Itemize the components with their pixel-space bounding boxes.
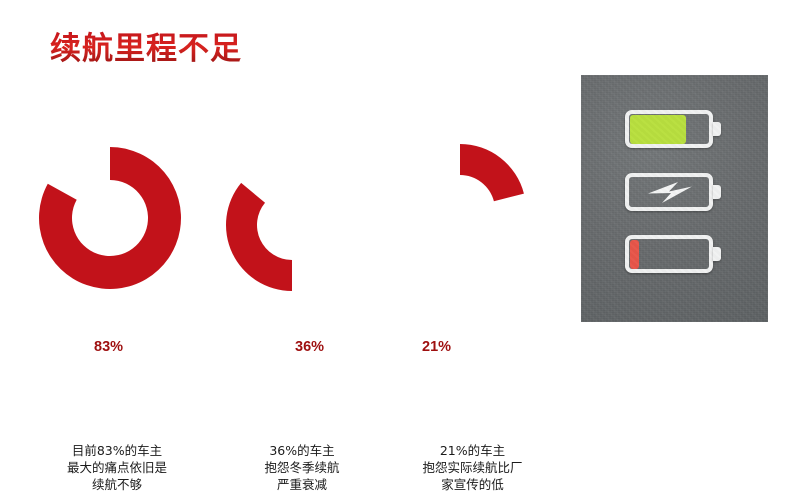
caption-line: 续航不够	[27, 476, 207, 493]
donut-ring-36	[222, 155, 362, 295]
donut-ring-83	[35, 143, 185, 293]
battery-charging-icon	[625, 173, 721, 211]
battery-terminal	[713, 247, 721, 261]
battery-terminal	[713, 122, 721, 136]
battery-full-icon	[625, 110, 721, 148]
caption-line: 家宣传的低	[380, 476, 565, 493]
page-title: 续航里程不足	[50, 28, 242, 70]
battery-terminal	[713, 185, 721, 199]
caption-line: 抱怨冬季续航	[217, 459, 387, 476]
donut-caption-83: 目前83%的车主 最大的痛点依旧是 续航不够	[27, 442, 207, 493]
caption-line: 21%的车主	[380, 442, 565, 459]
donut-caption-21: 21%的车主 抱怨实际续航比厂 家宣传的低	[380, 442, 565, 493]
donut-value-83: 83%	[94, 339, 123, 355]
caption-line: 抱怨实际续航比厂	[380, 459, 565, 476]
caption-line: 36%的车主	[217, 442, 387, 459]
caption-line: 严重衰减	[217, 476, 387, 493]
donut-ring-21	[390, 140, 530, 280]
caption-line: 最大的痛点依旧是	[27, 459, 207, 476]
donut-chart-21: 21% 21%的车主 抱怨实际续航比厂 家宣传的低	[390, 140, 555, 370]
donut-chart-83: 83% 目前83%的车主 最大的痛点依旧是 续航不够	[32, 140, 202, 370]
battery-fill-green	[630, 115, 687, 144]
battery-low-icon	[625, 235, 721, 273]
donut-value-36: 36%	[295, 339, 324, 355]
donut-chart-36: 36% 36%的车主 抱怨冬季续航 严重衰减	[222, 140, 382, 370]
lightning-bolt-icon	[644, 180, 696, 205]
donut-value-21: 21%	[422, 339, 451, 355]
caption-line: 目前83%的车主	[27, 442, 207, 459]
slide-canvas: 续航里程不足 83% 目前83%的车主 最大的痛点依旧是 续航不够 36% 36…	[0, 0, 792, 402]
battery-levels-image	[581, 75, 768, 322]
donut-caption-36: 36%的车主 抱怨冬季续航 严重衰减	[217, 442, 387, 493]
battery-fill-red	[630, 240, 639, 269]
